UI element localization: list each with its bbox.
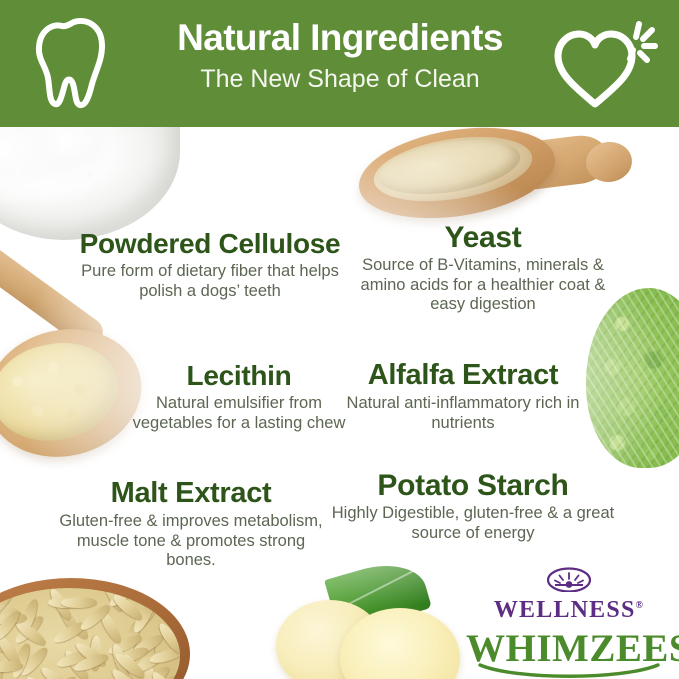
logo-wellness-reg-mark: ® (636, 600, 645, 611)
ingredient-potato-starch: Potato Starch Highly Digestible, gluten-… (330, 470, 616, 543)
ingredient-malt-extract: Malt Extract Gluten-free & improves meta… (58, 478, 324, 571)
header-banner: Natural Ingredients The New Shape of Cle… (0, 0, 679, 127)
ingredient-name: Powdered Cellulose (62, 228, 358, 259)
ingredient-description: Highly Digestible, gluten-free & a great… (330, 504, 616, 543)
sunrise-emblem-icon (546, 566, 592, 592)
ingredient-powdered-cellulose: Powdered Cellulose Pure form of dietary … (62, 228, 358, 301)
logo-whimzees-word: WHIMZEES (466, 627, 679, 670)
ingredient-name: Potato Starch (330, 470, 616, 501)
ingredient-lecithin: Lecithin Natural emulsifier from vegetab… (126, 360, 352, 433)
ingredient-yeast: Yeast Source of B-Vitamins, minerals & a… (352, 222, 614, 315)
photo-malt-grain (60, 596, 96, 608)
photo-malt-grains (0, 588, 180, 679)
tooth-icon (30, 14, 118, 112)
ingredient-alfalfa-extract: Alfalfa Extract Natural anti-inflammator… (330, 360, 596, 433)
ingredient-name: Malt Extract (58, 478, 324, 509)
ingredient-description: Natural anti-inflammatory rich in nutrie… (330, 394, 596, 433)
page-subtitle: The New Shape of Clean (120, 63, 560, 95)
ingredient-name: Alfalfa Extract (330, 360, 596, 391)
heart-sparkle-icon (548, 12, 660, 116)
ingredient-name: Yeast (352, 222, 614, 253)
page-title: Natural Ingredients (120, 16, 560, 60)
logo-whimzees-text: WHIMZEES® (466, 622, 672, 670)
infographic-page: Natural Ingredients The New Shape of Cle… (0, 0, 679, 679)
ingredient-description: Natural emulsifier from vegetables for a… (126, 394, 352, 433)
brand-logo: WELLNESS® WHIMZEES® (466, 566, 672, 670)
photo-alfalfa-sprouts-texture (586, 288, 679, 468)
ingredient-name: Lecithin (126, 360, 352, 391)
logo-wellness-text: WELLNESS® (466, 593, 672, 623)
ingredient-description: Gluten-free & improves metabolism, muscl… (58, 512, 324, 571)
ingredient-description: Source of B-Vitamins, minerals & amino a… (352, 256, 614, 315)
ingredient-description: Pure form of dietary fiber that helps po… (62, 262, 358, 301)
header-title-group: Natural Ingredients The New Shape of Cle… (120, 16, 560, 95)
logo-wellness-word: WELLNESS (494, 597, 636, 623)
